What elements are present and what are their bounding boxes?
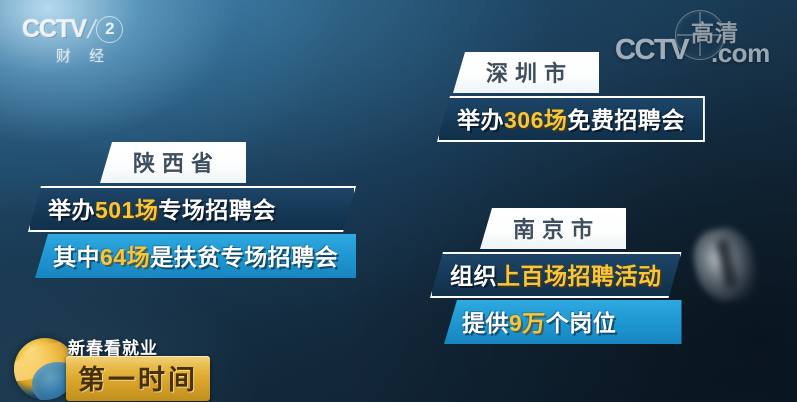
group-title-text: 深圳市 xyxy=(479,61,573,86)
infographic-group-nanjing: 南京市 组织上百场招聘活动 提供9万个岗位 xyxy=(430,208,682,344)
group-line-bar: 提供9万个岗位 xyxy=(444,300,682,344)
line-segment: 举办 xyxy=(457,107,504,133)
line-segment: 专场招聘会 xyxy=(158,197,276,223)
channel-logo-cctv2: CCTV / 2 财 经 xyxy=(22,14,138,68)
group-title-bar: 南京市 xyxy=(480,208,626,249)
channel-brand-text: CCTV xyxy=(22,15,86,44)
line-segment-highlight: 306场 xyxy=(504,107,567,133)
line-segment-highlight: 上百场招聘活动 xyxy=(497,263,662,289)
group-title-text: 陕西省 xyxy=(126,151,220,176)
program-name-bar: 第一时间 xyxy=(66,356,210,401)
watermark-suffix-text: .com xyxy=(711,38,770,69)
line-segment: 提供 xyxy=(462,310,509,336)
group-line-bar: 举办501场专场招聘会 xyxy=(28,186,356,232)
group-line-bar: 组织上百场招聘活动 xyxy=(430,252,682,298)
group-line-bar: 举办306场免费招聘会 xyxy=(437,96,705,142)
channel-number-badge: 2 xyxy=(96,16,123,43)
line-segment-highlight: 501场 xyxy=(95,197,158,223)
line-segment-highlight: 9万 xyxy=(509,310,546,336)
group-title-bar: 陕西省 xyxy=(100,142,246,183)
line-segment: 个岗位 xyxy=(546,310,617,336)
program-name-text: 第一时间 xyxy=(78,365,198,395)
channel-subtitle: 财 经 xyxy=(22,45,138,66)
line-segment: 举办 xyxy=(48,197,95,223)
line-segment: 其中 xyxy=(53,244,100,270)
line-segment: 组织 xyxy=(450,263,497,289)
line-segment: 免费招聘会 xyxy=(567,107,685,133)
watermark-brand-text: CCTV xyxy=(615,34,688,67)
group-line-bar: 其中64场是扶贫专场招聘会 xyxy=(35,234,356,278)
program-branding: 新春看就业 第一时间 xyxy=(0,330,230,402)
infographic-group-shaanxi: 陕西省 举办501场专场招聘会 其中64场是扶贫专场招聘会 xyxy=(28,142,356,278)
background-blurred-object xyxy=(688,223,762,308)
line-segment-highlight: 64场 xyxy=(100,244,150,270)
broadcast-screen: CCTV / 2 财 经 高清 CCTV .com 深圳市 举办306场免费招聘… xyxy=(0,0,797,402)
cctv-com-watermark: 高清 CCTV .com xyxy=(613,8,783,66)
line-segment: 是扶贫专场招聘会 xyxy=(150,244,338,270)
channel-logo-row: CCTV / 2 xyxy=(22,14,138,44)
group-title-bar: 深圳市 xyxy=(453,52,599,93)
group-title-text: 南京市 xyxy=(506,217,600,242)
